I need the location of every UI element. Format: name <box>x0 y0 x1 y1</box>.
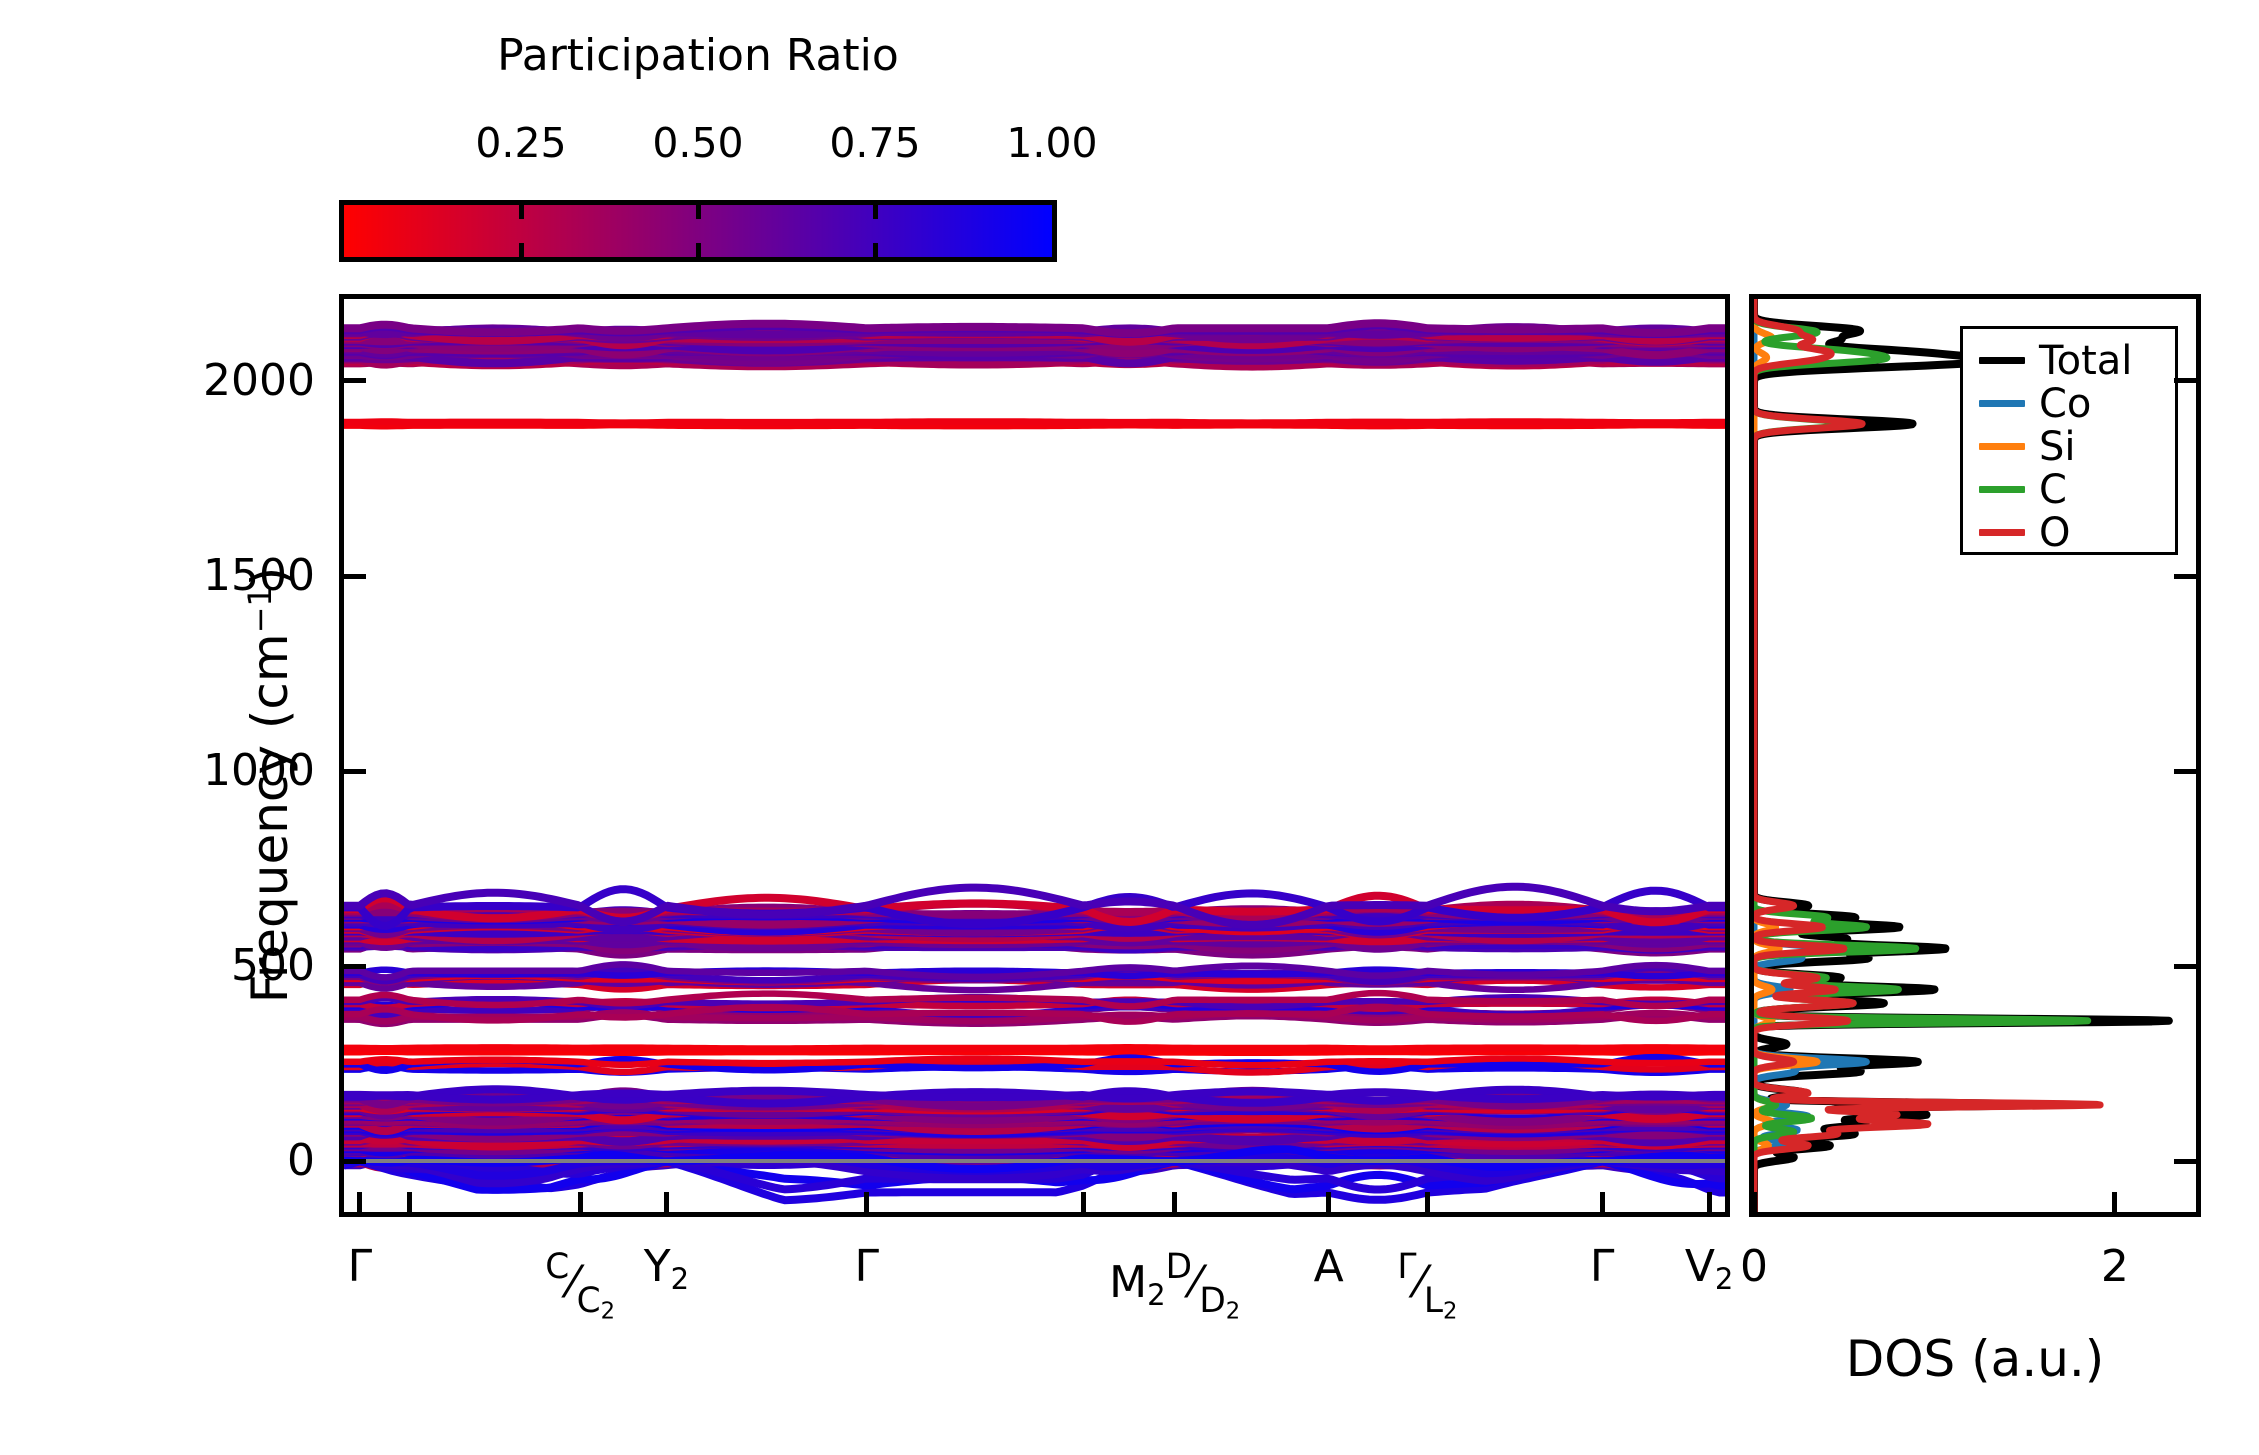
y-axis-label: Frequency (cm−1) <box>241 335 299 1235</box>
legend-item: O <box>1963 511 2175 554</box>
x-tick <box>664 1192 669 1212</box>
dos-y-tick <box>2174 964 2196 969</box>
kpath-label: Γ <box>348 1243 373 1291</box>
kpath-label: Γ⁄L2 <box>1397 1243 1457 1336</box>
x-tick <box>1172 1192 1177 1212</box>
band-structure-axes <box>339 294 1730 1217</box>
legend-line-swatch <box>1979 357 2025 364</box>
dos-x-tick-label: 0 <box>1740 1243 1768 1291</box>
legend-item: Total <box>1963 339 2175 382</box>
colorbar-tick <box>696 243 701 257</box>
colorbar-title: Participation Ratio <box>339 30 1057 82</box>
legend-item: Co <box>1963 382 2175 425</box>
colorbar-tick-label: 0.50 <box>652 118 743 168</box>
x-tick <box>1326 1192 1331 1212</box>
legend-line-swatch <box>1979 443 2025 450</box>
kpath-label: Y2 <box>644 1243 689 1303</box>
legend-label: Co <box>2039 384 2091 424</box>
y-label-exponent: −1 <box>241 586 279 633</box>
dos-x-tick <box>1752 1192 1757 1212</box>
x-tick <box>578 1192 583 1212</box>
phonon-band <box>344 422 1725 423</box>
dos-y-tick <box>2174 1159 2196 1164</box>
kpath-label: V2 <box>1685 1243 1734 1303</box>
dos-x-tick-label: 2 <box>2101 1243 2129 1291</box>
colorbar-tick-label: 0.25 <box>475 118 566 168</box>
legend-label: Total <box>2039 341 2132 381</box>
colorbar-tick <box>873 205 878 219</box>
colorbar-tick <box>696 205 701 219</box>
kpath-label: A <box>1314 1243 1344 1291</box>
colorbar-tick <box>873 243 878 257</box>
legend-item: C <box>1963 468 2175 511</box>
y-tick <box>344 378 366 383</box>
y-tick <box>344 574 366 579</box>
kpath-label: Γ <box>1590 1243 1615 1291</box>
dos-y-tick <box>2174 574 2196 579</box>
x-tick <box>1600 1192 1605 1212</box>
colorbar-gradient <box>339 200 1057 262</box>
colorbar-tick-label: 0.75 <box>829 118 920 168</box>
legend-label: C <box>2039 470 2067 510</box>
legend-label: Si <box>2039 427 2076 467</box>
x-tick <box>357 1192 362 1212</box>
zero-frequency-line <box>344 1159 1725 1163</box>
phonon-band <box>344 1048 1725 1049</box>
participation-ratio-colorbar <box>339 200 1057 262</box>
dos-axis-label: DOS (a.u.) <box>1749 1330 2201 1388</box>
legend-label: O <box>2039 513 2070 553</box>
band-plot-area <box>344 299 1725 1212</box>
kpath-label: Γ <box>854 1243 879 1291</box>
colorbar-tick-labels: 0.250.500.751.00 <box>339 118 1057 174</box>
colorbar-tick <box>519 205 524 219</box>
dos-x-tick <box>2112 1192 2117 1212</box>
x-tick <box>1707 1192 1712 1212</box>
dos-y-tick <box>2174 769 2196 774</box>
x-tick <box>1425 1192 1430 1212</box>
colorbar-tick <box>519 243 524 257</box>
band-curves <box>344 299 1725 1212</box>
y-tick <box>344 1159 366 1164</box>
legend-line-swatch <box>1979 486 2025 493</box>
y-tick <box>344 964 366 969</box>
kpath-label: C⁄C2 <box>545 1243 615 1336</box>
phonon-figure: Participation Ratio 0.250.500.751.00 Tot… <box>0 0 2259 1455</box>
y-tick <box>344 769 366 774</box>
x-tick <box>407 1192 412 1212</box>
legend-item: Si <box>1963 425 2175 468</box>
colorbar-tick-label: 1.00 <box>1006 118 1097 168</box>
dos-y-tick <box>2174 378 2196 383</box>
legend-line-swatch <box>1979 529 2025 536</box>
x-tick <box>864 1192 869 1212</box>
legend-line-swatch <box>1979 400 2025 407</box>
x-tick <box>1081 1192 1086 1212</box>
dos-legend: TotalCoSiCO <box>1960 326 2178 555</box>
kpath-label: M2D⁄D2 <box>1109 1243 1240 1336</box>
